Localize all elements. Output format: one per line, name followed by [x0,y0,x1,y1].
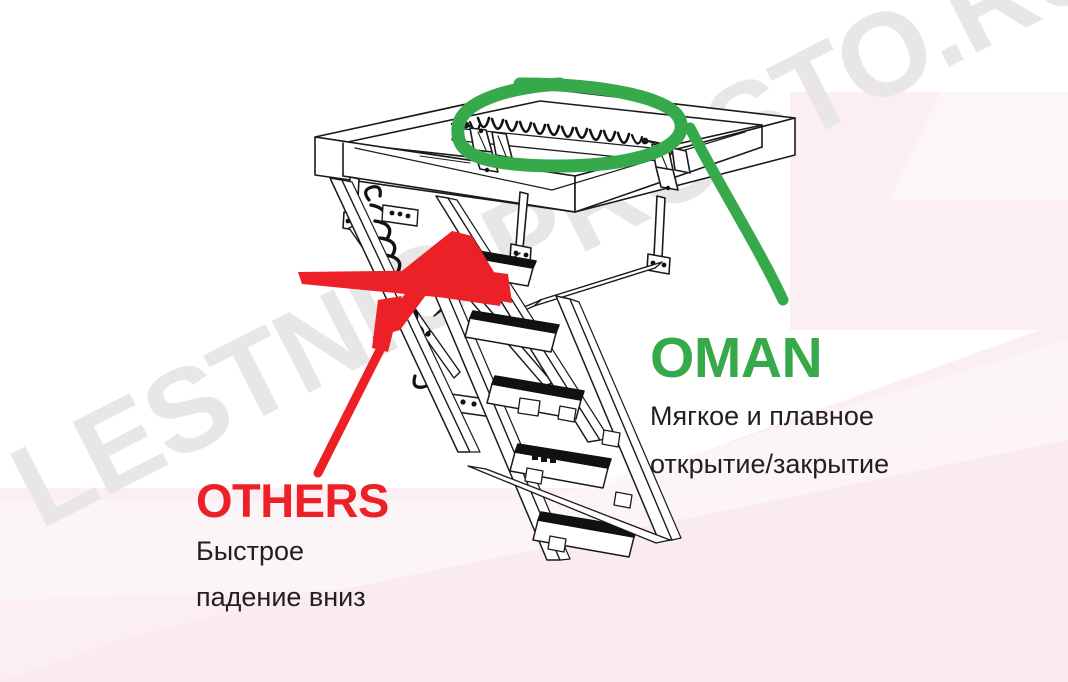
others-headline: OTHERS [196,477,389,524]
oman-headline: OMAN [650,330,889,387]
red-annotation [0,0,1068,682]
callout-oman: OMAN Мягкое и плавное открытие/закрытие [650,330,889,482]
red-arrow-tail [318,340,385,473]
red-arrow-head [298,231,512,352]
others-subtext-line-1: Быстрое [196,534,389,570]
oman-subtext-line-2: открытие/закрытие [650,447,889,483]
illustration-canvas: LESTNIC-PROSTO.RU [0,0,1068,682]
others-subtext-line-2: падение вниз [196,580,389,616]
oman-subtext-line-1: Мягкое и плавное [650,399,889,435]
callout-others: OTHERS Быстрое падение вниз [196,477,389,615]
